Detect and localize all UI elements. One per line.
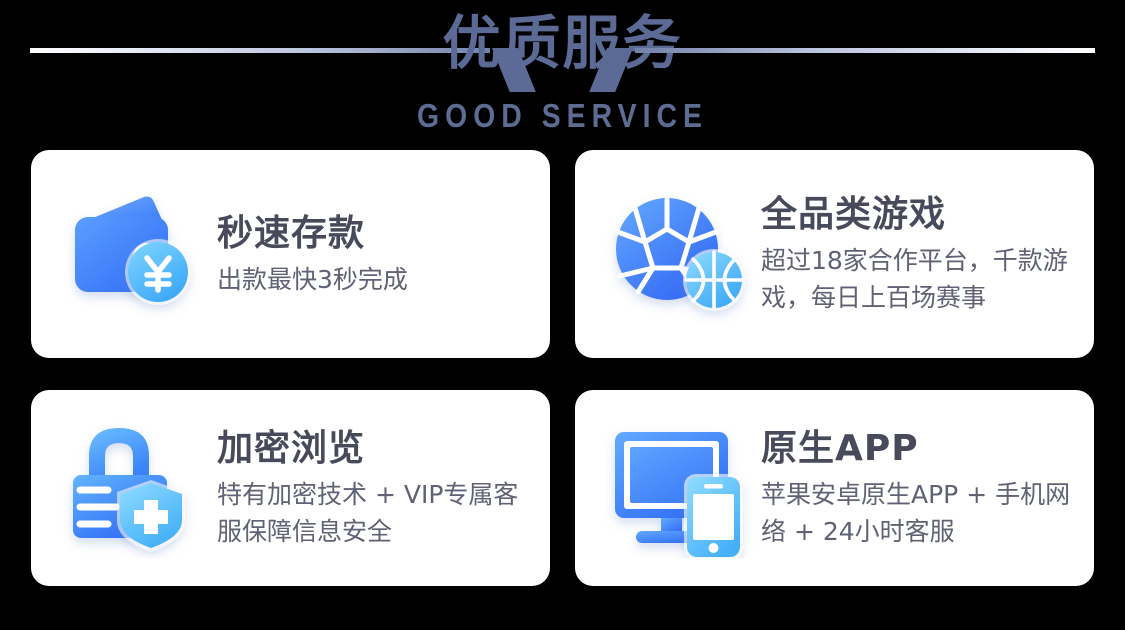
feature-card-text: 秒速存款 出款最快3秒完成 <box>211 211 550 298</box>
monitor-phone-icon <box>605 418 755 558</box>
feature-card-title: 加密浏览 <box>217 426 534 472</box>
feature-card-title: 全品类游戏 <box>761 192 1078 238</box>
feature-card[interactable]: 秒速存款 出款最快3秒完成 <box>31 150 550 358</box>
page-header: 优质服务 GOOD SERVICE <box>0 0 1125 150</box>
feature-card-desc: 特有加密技术 + VIP专属客服保障信息安全 <box>217 476 534 550</box>
feature-card-grid: 秒速存款 出款最快3秒完成 <box>31 150 1094 590</box>
feature-card[interactable]: 全品类游戏 超过18家合作平台，千款游戏，每日上百场赛事 <box>575 150 1094 358</box>
lock-shield-icon <box>61 418 211 558</box>
page-subtitle: GOOD SERVICE <box>79 96 1047 136</box>
feature-card-text: 加密浏览 特有加密技术 + VIP专属客服保障信息安全 <box>211 426 550 550</box>
feature-card-text: 原生APP 苹果安卓原生APP + 手机网络 + 24小时客服 <box>755 426 1094 550</box>
page-root: 优质服务 GOOD SERVICE <box>0 0 1125 630</box>
feature-card-title: 原生APP <box>761 426 1078 472</box>
feature-card-desc: 超过18家合作平台，千款游戏，每日上百场赛事 <box>761 242 1078 316</box>
feature-card[interactable]: 加密浏览 特有加密技术 + VIP专属客服保障信息安全 <box>31 390 550 586</box>
feature-card-title: 秒速存款 <box>217 211 534 257</box>
soccer-basketball-icon <box>605 184 755 324</box>
page-title: 优质服务 <box>0 4 1125 82</box>
wallet-yen-icon <box>61 184 211 324</box>
feature-card[interactable]: 原生APP 苹果安卓原生APP + 手机网络 + 24小时客服 <box>575 390 1094 586</box>
feature-card-desc: 出款最快3秒完成 <box>217 261 534 298</box>
gradient-rule-right-icon <box>635 48 1095 53</box>
feature-card-text: 全品类游戏 超过18家合作平台，千款游戏，每日上百场赛事 <box>755 192 1094 316</box>
feature-card-desc: 苹果安卓原生APP + 手机网络 + 24小时客服 <box>761 476 1078 550</box>
